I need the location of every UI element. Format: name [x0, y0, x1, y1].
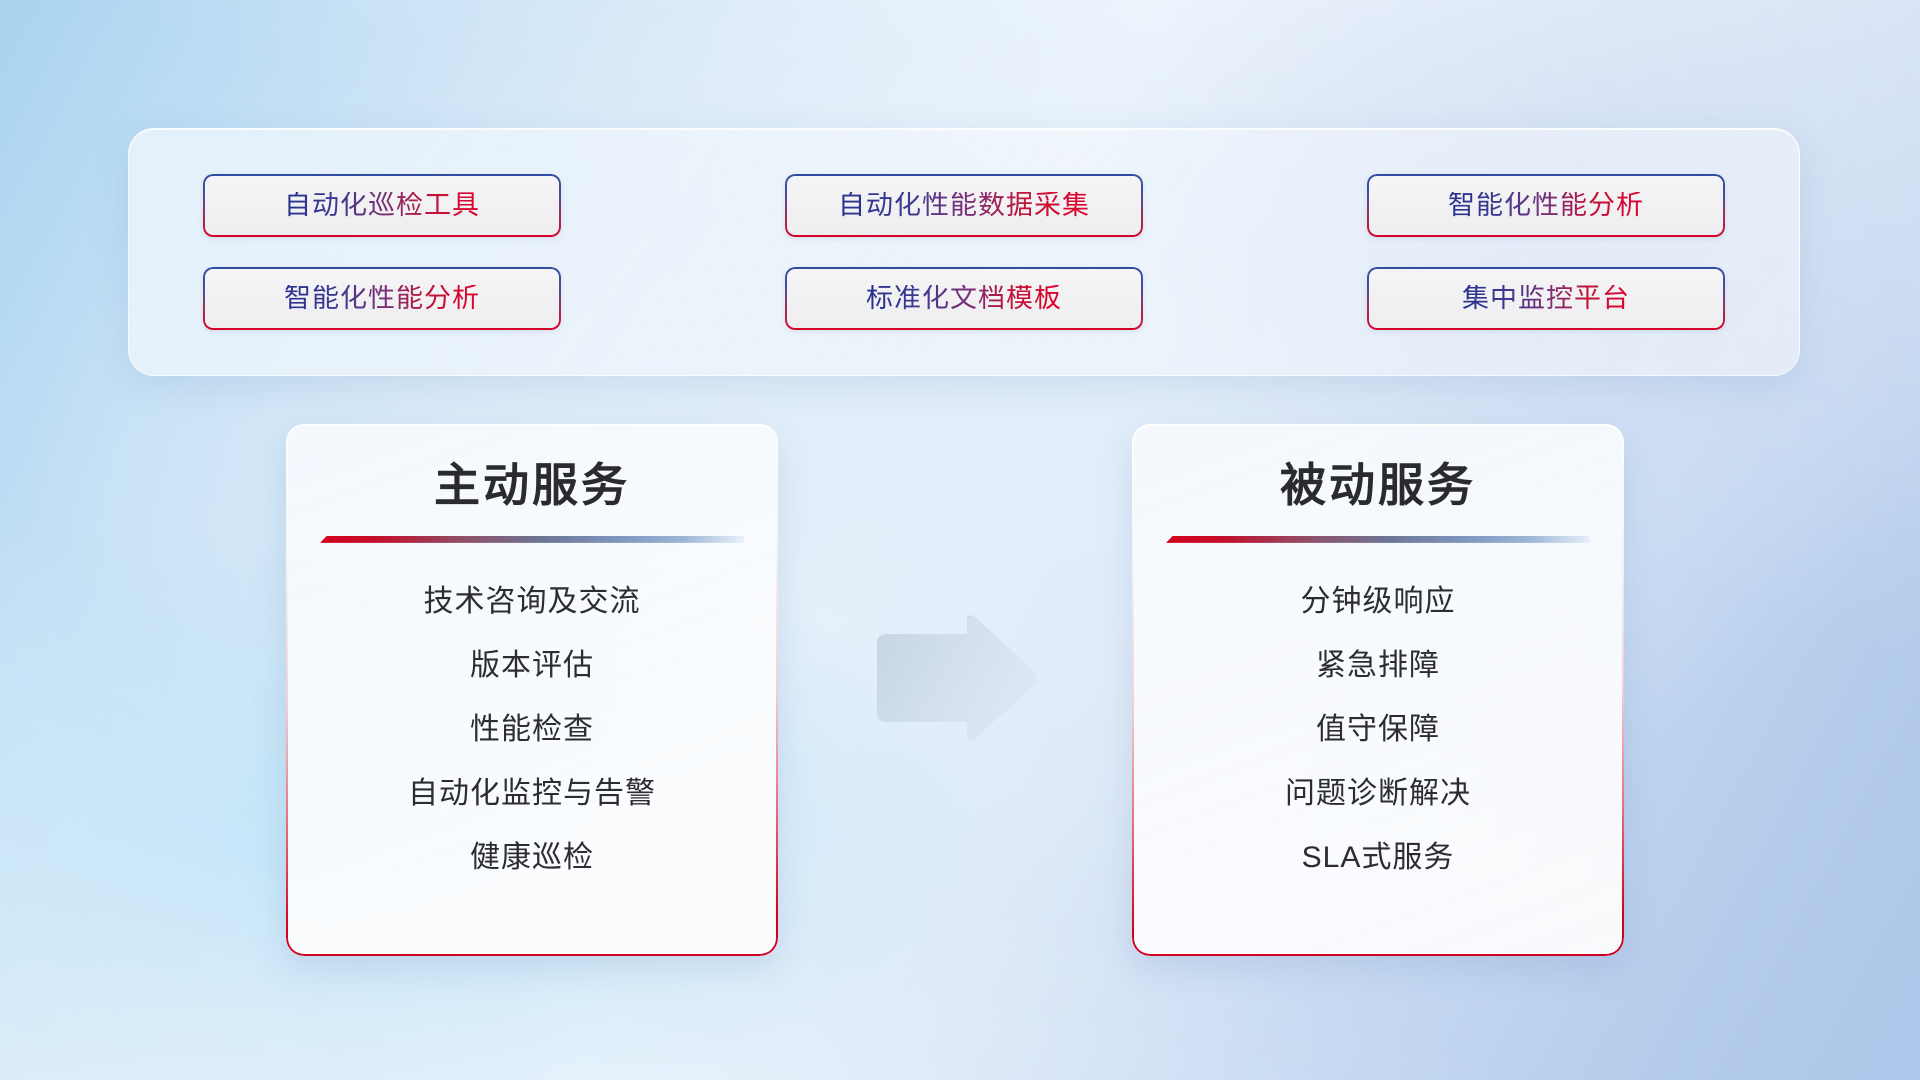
- capability-pill-automated-performance-data-collection[interactable]: 自动化性能数据采集: [785, 174, 1143, 237]
- capability-pill-standardized-document-template[interactable]: 标准化文档模板: [785, 267, 1143, 330]
- capability-pill-label: 智能化性能分析: [1448, 192, 1644, 219]
- capability-column-2: 自动化性能数据采集 标准化文档模板: [785, 174, 1143, 330]
- list-item: 问题诊断解决: [1132, 779, 1624, 809]
- capability-panel: 自动化巡检工具 智能化性能分析 自动化性能数据采集 标准化文档模板 智能化性能分…: [128, 128, 1800, 376]
- capability-pill-label: 自动化性能数据采集: [838, 192, 1090, 219]
- arrow-right-icon: [871, 612, 1041, 744]
- list-item: SLA式服务: [1132, 843, 1624, 873]
- capability-column-3: 智能化性能分析 集中监控平台: [1367, 174, 1725, 330]
- list-item: 技术咨询及交流: [286, 587, 778, 617]
- service-list-proactive: 技术咨询及交流 版本评估 性能检查 自动化监控与告警 健康巡检: [286, 587, 778, 873]
- list-item: 性能检查: [286, 715, 778, 745]
- service-list-reactive: 分钟级响应 紧急排障 值守保障 问题诊断解决 SLA式服务: [1132, 587, 1624, 873]
- capability-pill-label: 集中监控平台: [1462, 285, 1630, 312]
- capability-pill-automated-inspection-tool[interactable]: 自动化巡检工具: [203, 174, 561, 237]
- list-item: 健康巡检: [286, 843, 778, 873]
- service-card-reactive: 被动服务 分钟级响应 紧急排障 值守保障 问题诊断解决 SLA式服务: [1132, 424, 1624, 956]
- list-item: 版本评估: [286, 651, 778, 681]
- capability-pill-label: 智能化性能分析: [284, 285, 480, 312]
- list-item: 紧急排障: [1132, 651, 1624, 681]
- card-title-proactive: 主动服务: [286, 459, 778, 512]
- card-divider-rule: [1166, 536, 1590, 543]
- capability-pill-intelligent-performance-analysis-1[interactable]: 智能化性能分析: [203, 267, 561, 330]
- capability-pill-intelligent-performance-analysis-2[interactable]: 智能化性能分析: [1367, 174, 1725, 237]
- list-item: 自动化监控与告警: [286, 779, 778, 809]
- service-card-proactive: 主动服务 技术咨询及交流 版本评估 性能检查 自动化监控与告警 健康巡检: [286, 424, 778, 956]
- capability-pill-label: 标准化文档模板: [866, 285, 1062, 312]
- card-divider-rule: [320, 536, 744, 543]
- capability-pill-label: 自动化巡检工具: [284, 192, 480, 219]
- list-item: 值守保障: [1132, 715, 1624, 745]
- capability-pill-centralized-monitoring-platform[interactable]: 集中监控平台: [1367, 267, 1725, 330]
- list-item: 分钟级响应: [1132, 587, 1624, 617]
- capability-column-1: 自动化巡检工具 智能化性能分析: [203, 174, 561, 330]
- card-title-reactive: 被动服务: [1132, 459, 1624, 512]
